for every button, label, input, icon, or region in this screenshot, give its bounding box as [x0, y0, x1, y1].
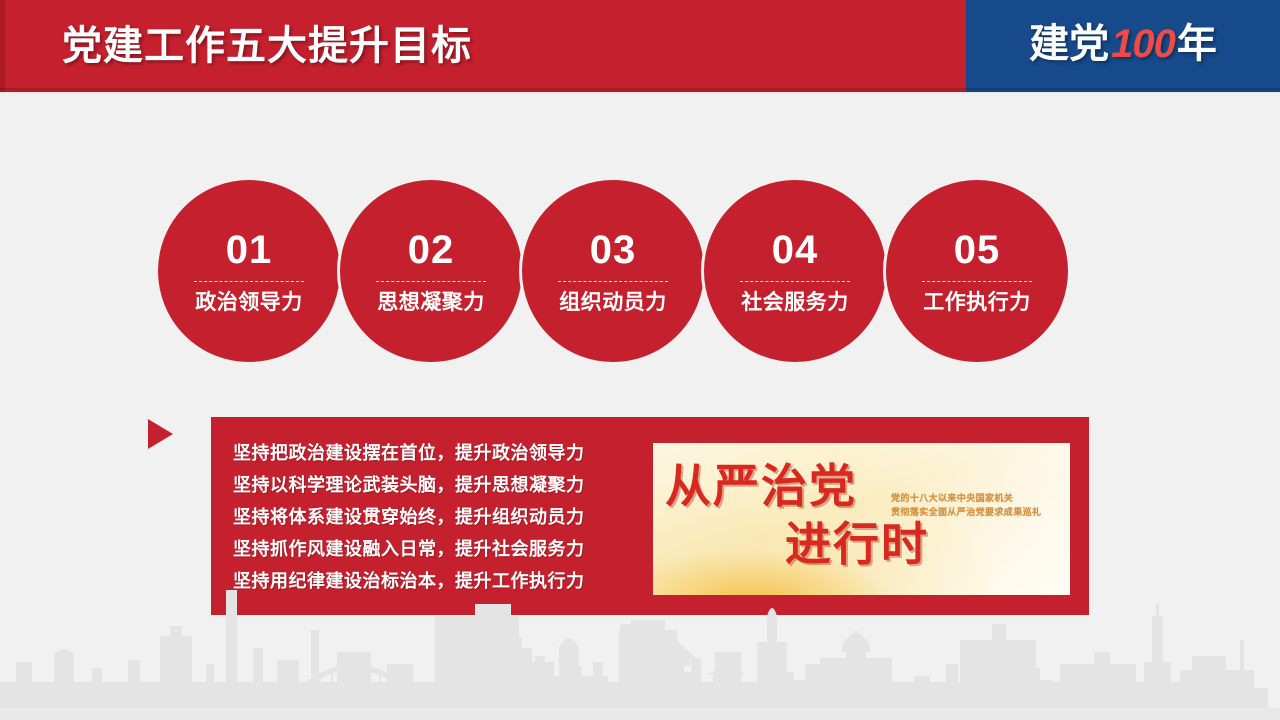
goal-number: 05: [954, 226, 1001, 274]
goal-circle-01[interactable]: 01 政治领导力: [155, 177, 343, 365]
goal-circles-row: 01 政治领导力 02 思想凝聚力 03 组织动员力 04 社会服务力 05 工…: [0, 177, 1280, 367]
goal-circle-03[interactable]: 03 组织动员力: [519, 177, 707, 365]
page-title: 党建工作五大提升目标: [62, 17, 472, 75]
goal-label: 组织动员力: [559, 290, 667, 316]
goal-circle-02[interactable]: 02 思想凝聚力: [337, 177, 525, 365]
goal-number: 02: [408, 226, 455, 274]
goal-number: 04: [772, 226, 819, 274]
divider: [922, 281, 1032, 282]
poster-subtitle-line1: 党的十八大以来中央国家机关: [891, 491, 1066, 505]
divider: [376, 281, 486, 282]
badge-prefix: 建党: [1029, 22, 1109, 66]
goal-number: 03: [590, 226, 637, 274]
goal-label: 社会服务力: [741, 290, 849, 316]
goal-label: 思想凝聚力: [377, 290, 485, 316]
list-item: 坚持以科学理论武装头脑，提升思想凝聚力: [233, 469, 633, 501]
poster-image: 从严治党 进行时 党的十八大以来中央国家机关 贯彻落实全面从严治党要求成果巡礼: [653, 443, 1070, 595]
divider: [740, 281, 850, 282]
city-skyline-silhouette: [0, 590, 1280, 720]
poster-title-line2: 进行时: [785, 517, 929, 571]
goal-label: 工作执行力: [923, 290, 1031, 316]
detail-text-list: 坚持把政治建设摆在首位，提升政治领导力 坚持以科学理论武装头脑，提升思想凝聚力 …: [233, 437, 633, 597]
goal-circle-04[interactable]: 04 社会服务力: [701, 177, 889, 365]
badge-suffix: 年: [1177, 22, 1217, 66]
badge-number: 100: [1109, 22, 1177, 66]
divider: [558, 281, 668, 282]
detail-panel: 坚持把政治建设摆在首位，提升政治领导力 坚持以科学理论武装头脑，提升思想凝聚力 …: [211, 417, 1089, 615]
header-drop-shadow: [0, 88, 1280, 94]
list-item: 坚持抓作风建设融入日常，提升社会服务力: [233, 533, 633, 565]
poster-subtitle-line2: 贯彻落实全面从严治党要求成果巡礼: [891, 505, 1066, 519]
list-item: 坚持把政治建设摆在首位，提升政治领导力: [233, 437, 633, 469]
poster-title-line1: 从严治党: [665, 459, 857, 513]
play-triangle-icon: [148, 419, 173, 449]
anniversary-badge: 建党100年: [966, 13, 1280, 75]
slide-canvas: 党建工作五大提升目标 建党100年 01 政治领导力 02 思想凝聚力 03 组…: [0, 0, 1280, 720]
goal-circle-05[interactable]: 05 工作执行力: [883, 177, 1071, 365]
divider: [194, 281, 304, 282]
goal-number: 01: [226, 226, 273, 274]
poster-subtitle: 党的十八大以来中央国家机关 贯彻落实全面从严治党要求成果巡礼: [891, 491, 1066, 519]
goal-label: 政治领导力: [195, 290, 303, 316]
list-item: 坚持将体系建设贯穿始终，提升组织动员力: [233, 501, 633, 533]
slide-header: 党建工作五大提升目标 建党100年: [0, 0, 1280, 92]
